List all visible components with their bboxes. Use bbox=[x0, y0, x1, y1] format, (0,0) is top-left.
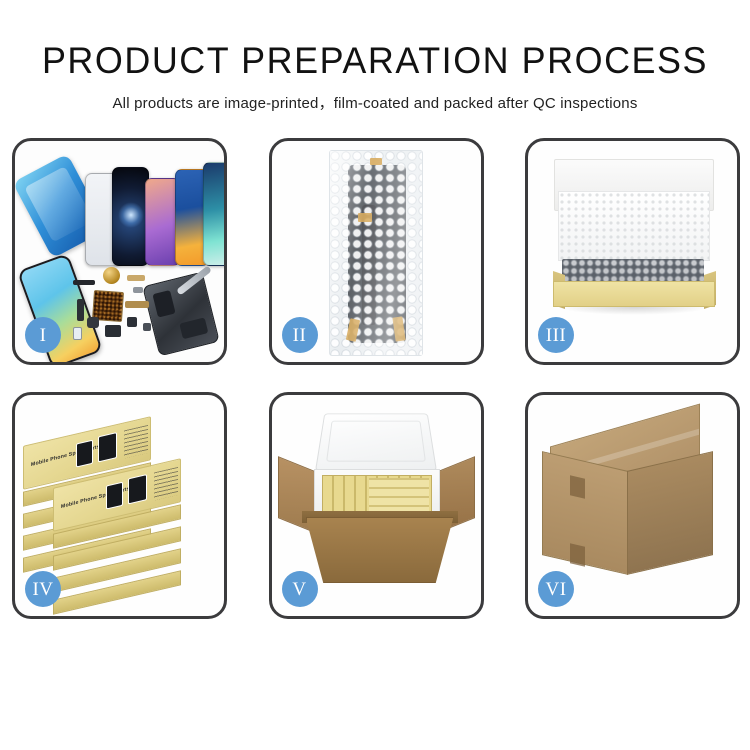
spare-part-flex-cable bbox=[77, 299, 84, 321]
page-title: PRODUCT PREPARATION PROCESS bbox=[11, 0, 739, 79]
carton-body bbox=[306, 517, 454, 583]
phone-teal-screen bbox=[203, 162, 224, 266]
box-window-rear-1 bbox=[76, 440, 93, 468]
spare-part-ribbon bbox=[73, 280, 95, 285]
box-shadow bbox=[558, 307, 710, 315]
step-badge-5: V bbox=[282, 571, 318, 607]
page-subtitle: All products are image-printed，film-coat… bbox=[0, 79, 750, 113]
carton-tape-upper bbox=[570, 475, 585, 498]
sealed-carton-front-left bbox=[542, 451, 628, 575]
carton-tape-lower bbox=[570, 543, 585, 566]
phone-dark-screen bbox=[112, 167, 149, 266]
process-row-2: Mobile Phone Spare Parts Mobile Phone Sp… bbox=[12, 392, 740, 619]
process-row-1: I II bbox=[12, 138, 740, 365]
box-window-front-1 bbox=[106, 482, 123, 510]
foam-box-lid bbox=[314, 413, 436, 471]
process-panel-1[interactable]: I bbox=[12, 138, 227, 365]
step-badge-4: IV bbox=[25, 571, 61, 607]
phone-back-housing bbox=[142, 272, 220, 357]
box-window-front-2 bbox=[128, 474, 147, 504]
plastic-sheen bbox=[330, 151, 422, 355]
sealed-carton-front-right bbox=[627, 451, 713, 575]
step-badge-1: I bbox=[25, 317, 61, 353]
page-header: PRODUCT PREPARATION PROCESS All products… bbox=[0, 0, 750, 113]
step-badge-2: II bbox=[282, 317, 318, 353]
spare-part-camera bbox=[87, 317, 99, 328]
kraft-box-front bbox=[553, 281, 715, 307]
process-panel-5[interactable]: V bbox=[269, 392, 484, 619]
phone-lineup bbox=[85, 151, 224, 266]
process-panel-6[interactable]: VI bbox=[525, 392, 740, 619]
spare-part-speaker bbox=[105, 325, 121, 337]
spare-part-connector bbox=[127, 275, 145, 281]
box-spec-lines-front bbox=[154, 467, 178, 501]
box-window-rear-2 bbox=[98, 432, 117, 462]
process-panel-3[interactable]: III bbox=[525, 138, 740, 365]
spare-part-bracket bbox=[133, 287, 143, 293]
step-badge-3: III bbox=[538, 317, 574, 353]
process-panel-2[interactable]: II bbox=[269, 138, 484, 365]
spare-part-button bbox=[127, 317, 137, 327]
vibration-motor-part bbox=[103, 267, 120, 284]
bubble-wrap-bag bbox=[329, 150, 423, 356]
process-grid: I II bbox=[12, 138, 740, 619]
process-panel-4[interactable]: Mobile Phone Spare Parts Mobile Phone Sp… bbox=[12, 392, 227, 619]
step-badge-6: VI bbox=[538, 571, 574, 607]
spare-part-screw-set bbox=[143, 323, 151, 331]
foam-sheet bbox=[558, 191, 710, 261]
box-spec-lines-rear bbox=[124, 425, 148, 459]
spare-part-gold-flex bbox=[125, 301, 149, 308]
spare-part-sim-tray bbox=[73, 327, 82, 340]
